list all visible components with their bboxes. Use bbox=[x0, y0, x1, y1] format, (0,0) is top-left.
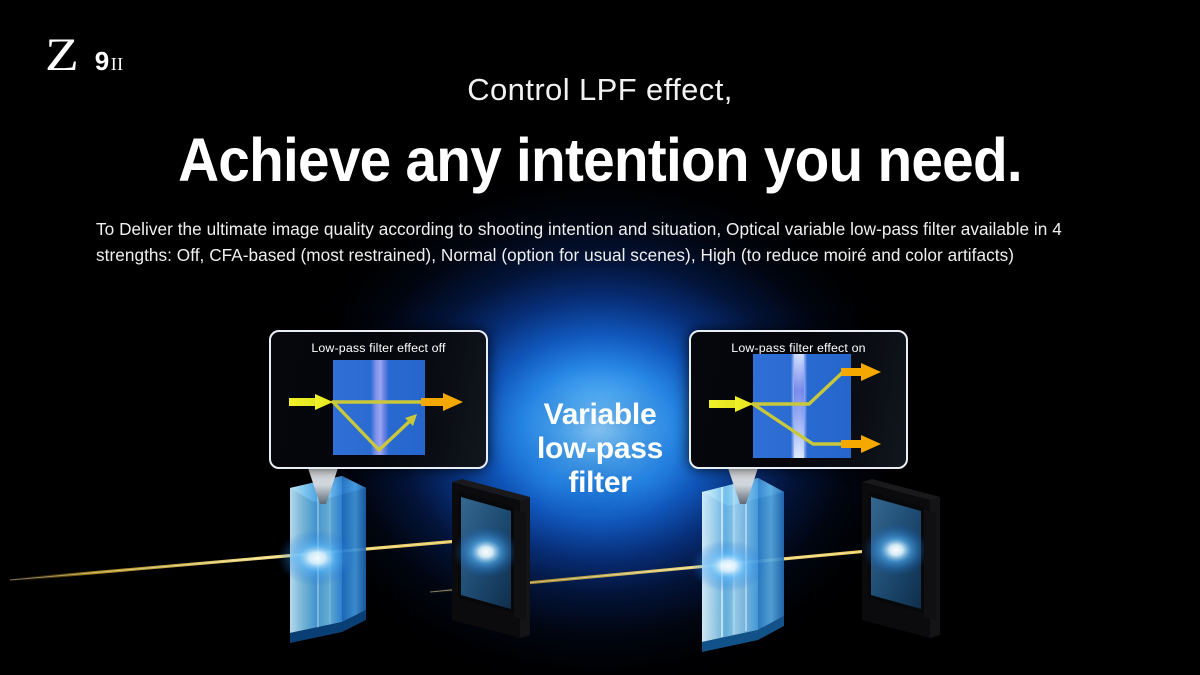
filter-band-core bbox=[794, 354, 804, 458]
slide-stage: Z 9 II Control LPF effect, Achieve any i… bbox=[0, 0, 1200, 675]
center-label-line2: low-pass bbox=[500, 432, 700, 466]
page-title: Achieve any intention you need. bbox=[42, 125, 1158, 195]
incoming-arrow bbox=[709, 396, 753, 412]
kicker-text: Control LPF effect, bbox=[0, 72, 1200, 108]
incoming-arrow bbox=[289, 394, 333, 410]
center-label-line1: Variable bbox=[500, 398, 700, 432]
glass-flare bbox=[690, 540, 766, 592]
sensor-flare bbox=[453, 526, 519, 578]
filter-band bbox=[371, 360, 388, 455]
logo-model-suffix: II bbox=[111, 55, 124, 73]
center-label: Variable low-pass filter bbox=[500, 398, 700, 501]
diagram-lpf-off bbox=[271, 332, 486, 467]
diagram-lpf-on bbox=[691, 332, 906, 467]
body-paragraph: To Deliver the ultimate image quality ac… bbox=[96, 216, 1104, 268]
logo-model-number: 9 bbox=[95, 48, 109, 74]
callout-lpf-off[interactable]: Low-pass filter effect off bbox=[269, 330, 488, 469]
image-sensor bbox=[862, 479, 940, 638]
callout-lpf-on[interactable]: Low-pass filter effect on bbox=[689, 330, 908, 469]
center-label-line3: filter bbox=[500, 466, 700, 500]
image-sensor bbox=[452, 479, 530, 638]
glass-flare bbox=[277, 530, 357, 586]
outgoing-arrow bbox=[421, 393, 463, 411]
sensor-flare bbox=[863, 524, 929, 576]
